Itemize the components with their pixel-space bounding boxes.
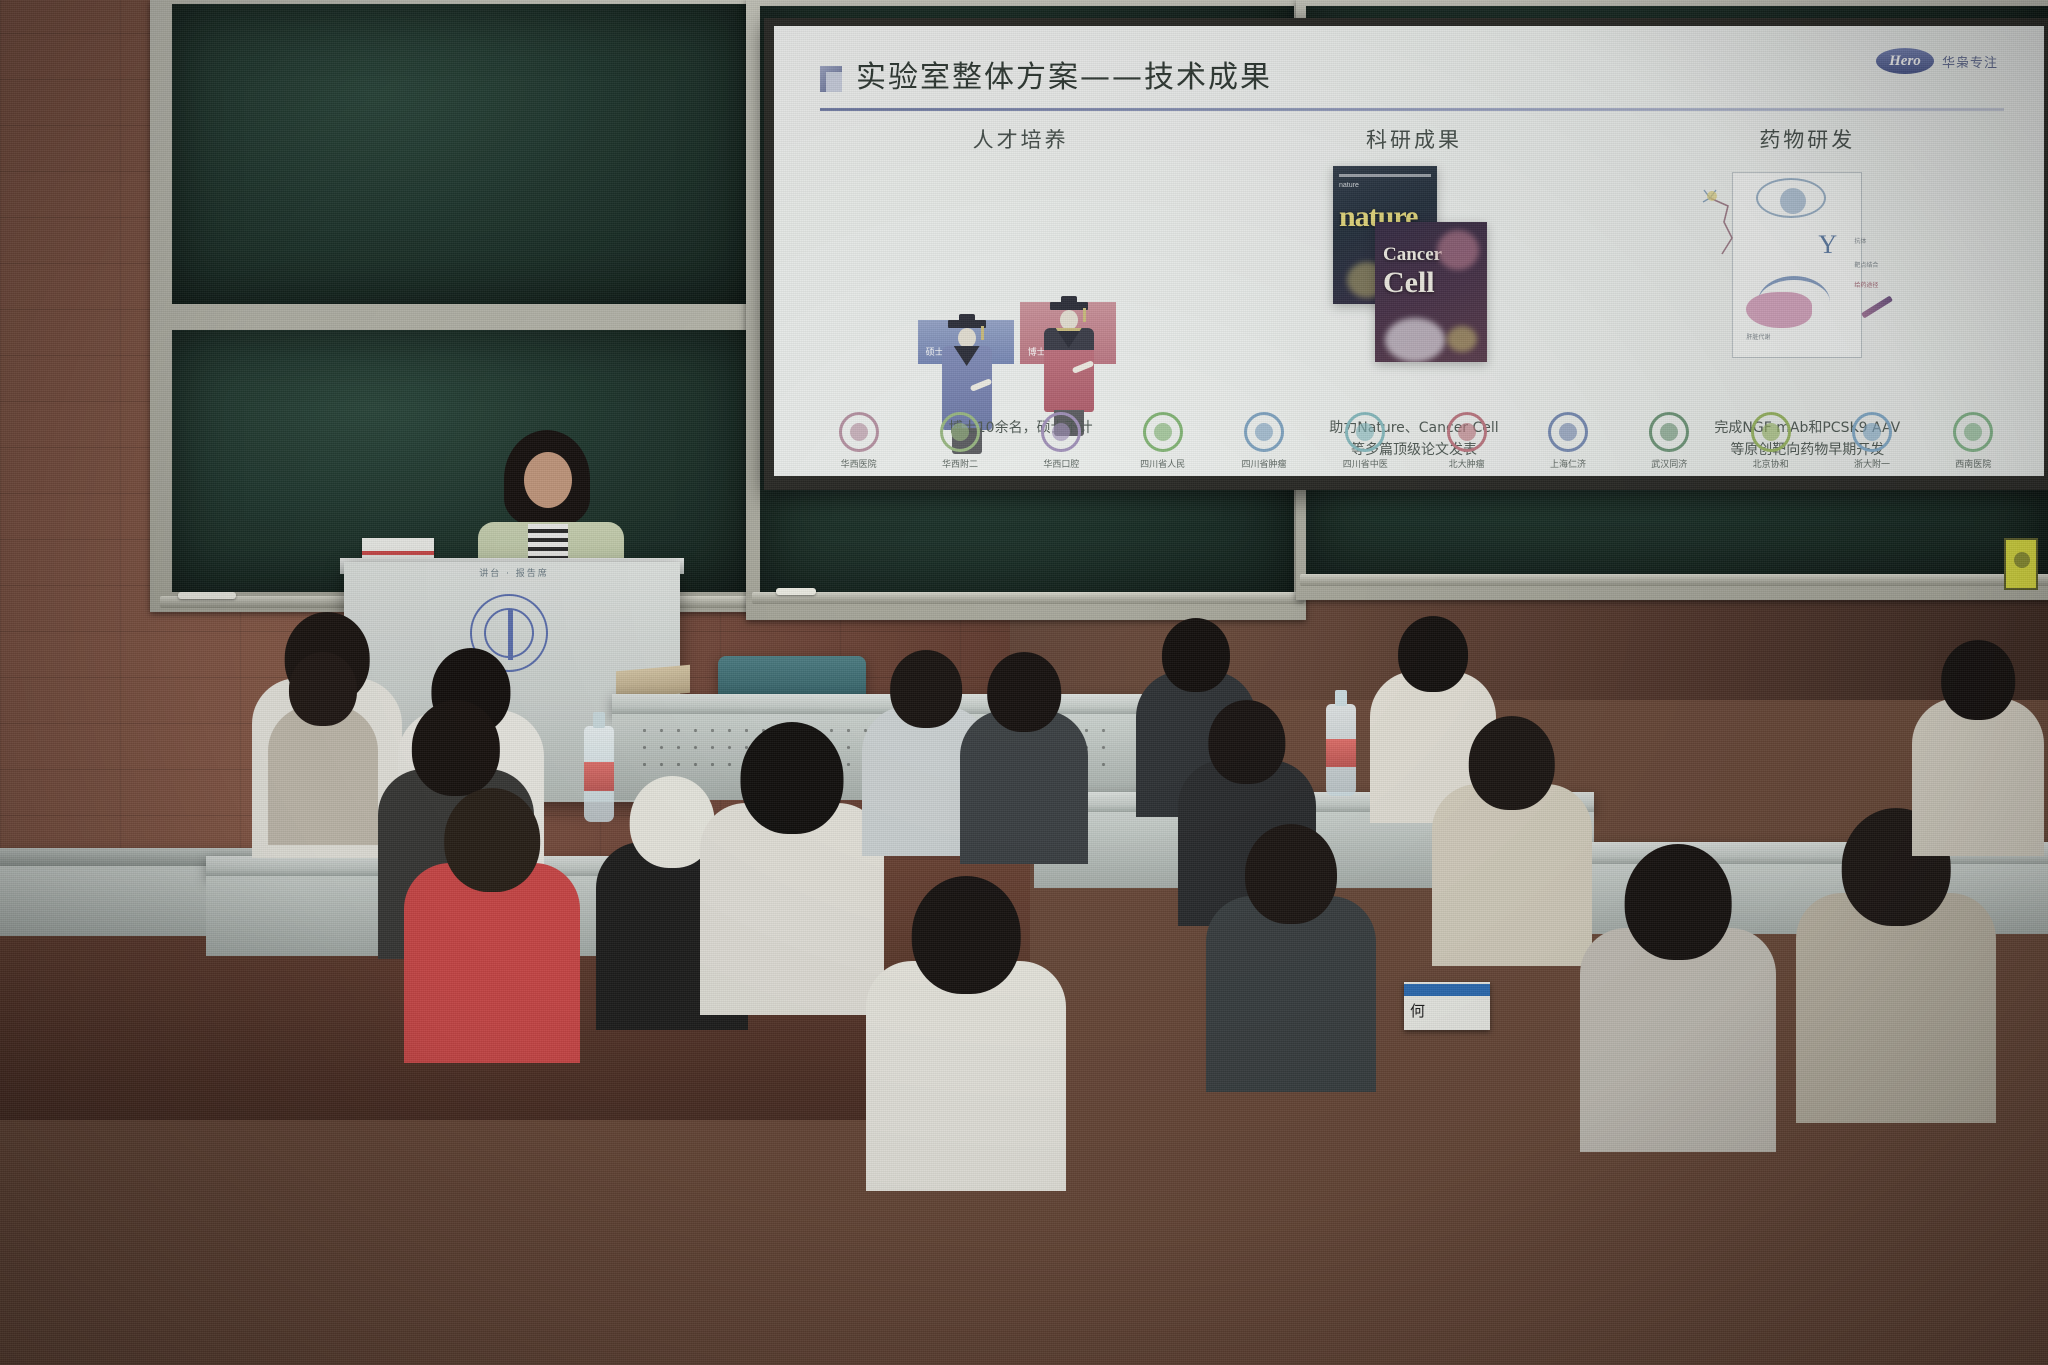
injection-icon xyxy=(1861,295,1893,318)
tassel-icon xyxy=(1083,308,1086,322)
cover-artwork xyxy=(1437,230,1479,270)
chalk-tray-center xyxy=(752,592,1304,604)
partner-logo-label: 北京协和 xyxy=(1753,457,1789,470)
warning-sign-icon xyxy=(2004,538,2038,590)
audience-head xyxy=(912,876,1021,994)
audience-head xyxy=(1941,640,2015,720)
nameplate-text: 何 xyxy=(1410,1000,1425,1021)
chalkboard-left-lower xyxy=(172,330,748,592)
audience-torso xyxy=(700,803,884,1015)
partner-logo-icon xyxy=(1242,410,1286,454)
student xyxy=(1432,716,1592,938)
partner-logo-label: 浙大附一 xyxy=(1854,457,1890,470)
partner-logo: 四川省人民 xyxy=(1112,410,1213,470)
drug-discovery-diagram: Y 抗体 靶点结合 给药途径 肝脏代谢 xyxy=(1702,164,1912,364)
chalk-tray-right xyxy=(1300,574,2048,586)
brand-oval-icon: Hero xyxy=(1876,48,1934,74)
audience-torso xyxy=(404,863,580,1063)
partner-logo-label: 华西医院 xyxy=(841,457,877,470)
partner-logo: 北大肿瘤 xyxy=(1416,410,1517,470)
journal-cover-cancer-cell: Cancer Cell xyxy=(1375,222,1487,362)
student xyxy=(1912,640,2044,838)
slide-title: 实验室整体方案——技术成果 xyxy=(856,52,1272,96)
slide-header: 实验室整体方案——技术成果 xyxy=(820,52,2004,108)
column-heading: 人才培养 xyxy=(973,124,1069,154)
audience-torso xyxy=(1580,928,1776,1152)
partner-logo: 四川省肿瘤 xyxy=(1213,410,1314,470)
student xyxy=(960,652,1088,846)
neuron-icon xyxy=(1702,188,1760,258)
partner-logo: 上海仁济 xyxy=(1517,410,1618,470)
nameplate: 何 xyxy=(1404,982,1490,1030)
partner-logo-icon xyxy=(1445,410,1489,454)
partner-logo-label: 四川省肿瘤 xyxy=(1241,457,1286,470)
partner-logo-icon xyxy=(938,410,982,454)
partner-logo: 西南医院 xyxy=(1923,410,2024,470)
column-talent: 人才培养 硕士 博士 xyxy=(824,124,1217,414)
journal-title-cancer: Cancer xyxy=(1383,244,1442,266)
figure-head xyxy=(958,328,976,348)
audience-torso xyxy=(1432,784,1592,966)
graduates-illustration: 硕士 博士 xyxy=(916,164,1126,364)
partner-logo-icon xyxy=(1343,410,1387,454)
cover-rule xyxy=(1339,174,1431,177)
column-research: 科研成果 nature nature Cancer Cell xyxy=(1217,124,1610,414)
partner-logo-icon xyxy=(1546,410,1590,454)
audience-head xyxy=(1208,700,1285,784)
journal-covers-illustration: nature nature Cancer Cell xyxy=(1319,164,1509,364)
antibody-icon: Y xyxy=(1818,230,1837,260)
partner-logo-icon xyxy=(1039,410,1083,454)
audience-head xyxy=(987,652,1061,732)
partner-logo: 华西口腔 xyxy=(1011,410,1112,470)
partner-logo-label: 四川省人民 xyxy=(1140,457,1185,470)
presentation-slide: 实验室整体方案——技术成果 Hero 华枭专注 人才培养 硕士 xyxy=(774,26,2044,476)
student xyxy=(700,722,884,974)
audience-head xyxy=(890,650,962,728)
partner-logo-label: 北大肿瘤 xyxy=(1449,457,1485,470)
audience-head xyxy=(1469,716,1555,810)
nameplate-banner xyxy=(1404,984,1490,996)
audience-torso xyxy=(1796,893,1996,1123)
chalk-stick xyxy=(776,588,816,595)
audience-head xyxy=(289,652,357,726)
diagram-label: 抗体 xyxy=(1854,236,1866,245)
partner-logo: 武汉同济 xyxy=(1619,410,1720,470)
brand-latin-text: Hero xyxy=(1889,53,1921,70)
podium-label: 讲台 · 报告席 xyxy=(404,566,624,579)
audience-head xyxy=(1162,618,1230,692)
column-heading: 科研成果 xyxy=(1366,124,1462,154)
audience-head xyxy=(444,788,540,892)
partner-logo: 四川省中医 xyxy=(1315,410,1416,470)
journal-title-cell: Cell xyxy=(1383,266,1435,300)
partner-logo: 华西医院 xyxy=(808,410,909,470)
brand-chinese-text: 华枭专注 xyxy=(1942,52,1998,71)
student xyxy=(1580,844,1776,1108)
pedestal-label: 博士 xyxy=(1028,345,1046,358)
slide-columns: 人才培养 硕士 博士 xyxy=(824,124,2004,414)
bottle-label xyxy=(1326,739,1356,767)
brand-logo: Hero 华枭专注 xyxy=(1876,48,1998,74)
chalk-stick xyxy=(178,592,236,599)
projection-screen: 实验室整体方案——技术成果 Hero 华枭专注 人才培养 硕士 xyxy=(764,18,2048,490)
mortarboard-icon xyxy=(1050,302,1088,310)
partner-logo-label: 上海仁济 xyxy=(1550,457,1586,470)
audience-torso xyxy=(1206,896,1376,1092)
student xyxy=(268,652,378,832)
partner-logo: 浙大附一 xyxy=(1821,410,1922,470)
partner-logo-icon xyxy=(1647,410,1691,454)
audience-head xyxy=(1625,844,1732,960)
liver-icon xyxy=(1746,292,1812,328)
audience-torso xyxy=(960,710,1088,864)
presenter-face xyxy=(524,452,572,508)
partner-logo: 华西附二 xyxy=(909,410,1010,470)
partner-logo-icon xyxy=(1850,410,1894,454)
partner-logo-icon xyxy=(1749,410,1793,454)
pedestal-label: 硕士 xyxy=(926,345,944,358)
audience-torso xyxy=(1912,698,2044,856)
mortarboard-icon xyxy=(948,320,986,328)
partner-logo-icon xyxy=(837,410,881,454)
water-bottle xyxy=(1326,704,1356,796)
column-drug-development: 药物研发 Y 抗体 xyxy=(1611,124,2004,414)
cover-artwork xyxy=(1447,326,1477,352)
audience-torso xyxy=(268,705,378,845)
audience-torso xyxy=(866,961,1066,1191)
diagram-label: 给药途径 xyxy=(1854,280,1878,289)
audience-head xyxy=(1398,616,1468,692)
partner-logo-label: 西南医院 xyxy=(1955,457,1991,470)
diagram-label: 靶点结合 xyxy=(1854,260,1878,269)
audience-head xyxy=(1245,824,1337,924)
partner-logo: 北京协和 xyxy=(1720,410,1821,470)
partner-logo-label: 华西口腔 xyxy=(1043,457,1079,470)
title-underline xyxy=(820,108,2004,111)
chalkboard-left-upper xyxy=(172,4,748,304)
student xyxy=(404,788,580,1028)
partner-logo-icon xyxy=(1951,410,1995,454)
title-bullet-icon xyxy=(820,66,842,92)
audience-head xyxy=(412,700,500,796)
figure-head xyxy=(1060,310,1078,330)
column-heading: 药物研发 xyxy=(1759,124,1855,154)
lecture-hall-photo: 实验室整体方案——技术成果 Hero 华枭专注 人才培养 硕士 xyxy=(0,0,2048,1365)
partner-logo-label: 四川省中医 xyxy=(1343,457,1388,470)
partner-logo-label: 武汉同济 xyxy=(1651,457,1687,470)
diagram-label: 肝脏代谢 xyxy=(1746,332,1770,341)
partner-logo-label: 华西附二 xyxy=(942,457,978,470)
cover-artwork xyxy=(1385,318,1445,362)
student xyxy=(1206,824,1376,1060)
tassel-icon xyxy=(981,326,984,340)
student xyxy=(866,876,1066,1146)
partner-logo-strip: 华西医院华西附二华西口腔四川省人民四川省肿瘤四川省中医北大肿瘤上海仁济武汉同济北… xyxy=(808,398,2024,470)
partner-logo-icon xyxy=(1141,410,1185,454)
audience-head xyxy=(740,722,843,834)
cover-subtext: nature xyxy=(1339,182,1359,189)
